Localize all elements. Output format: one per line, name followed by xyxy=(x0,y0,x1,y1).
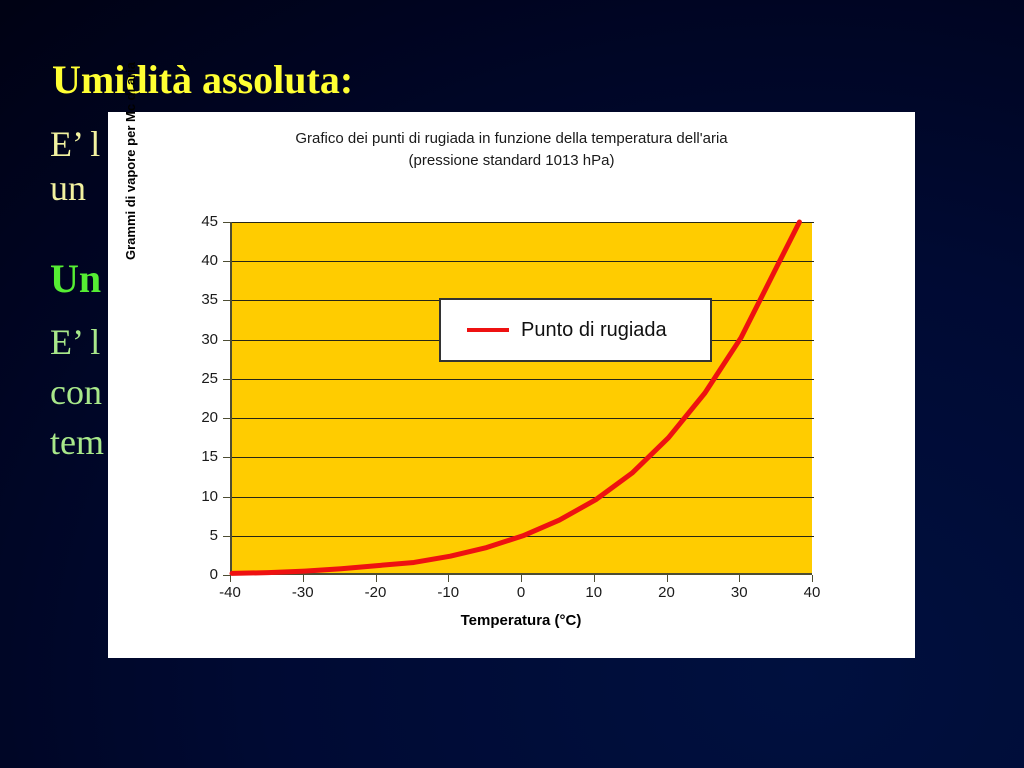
x-axis-tick-label: -40 xyxy=(195,584,265,601)
y-axis-tick-label: 5 xyxy=(158,527,218,544)
section-subtitle: Un xyxy=(50,256,101,302)
x-axis-tick-label: 0 xyxy=(486,584,556,601)
y-axis-tick-mark xyxy=(223,340,230,341)
chart-subtitle: (pressione standard 1013 hPa) xyxy=(108,150,915,172)
x-axis-tick-mark xyxy=(812,575,813,582)
x-axis-tick-label: 40 xyxy=(777,584,847,601)
x-axis-tick-label: -10 xyxy=(413,584,483,601)
page-title: Umidità assoluta: xyxy=(52,57,353,103)
y-axis-tick-label: 30 xyxy=(158,331,218,348)
plot-wrap: 051015202530354045 -40-30-20-10010203040 xyxy=(230,222,812,575)
y-axis-tick-label: 15 xyxy=(158,448,218,465)
body-text-line-1: E’ l xyxy=(50,122,100,166)
x-axis-tick-mark xyxy=(667,575,668,582)
x-axis-tick-label: -20 xyxy=(341,584,411,601)
x-axis-tick-label: 20 xyxy=(632,584,702,601)
y-axis-tick-mark xyxy=(223,418,230,419)
x-axis-tick-mark xyxy=(521,575,522,582)
x-axis-tick-mark xyxy=(448,575,449,582)
x-axis-tick-mark xyxy=(376,575,377,582)
y-axis-tick-label: 25 xyxy=(158,370,218,387)
y-axis-tick-label: 45 xyxy=(158,213,218,230)
green-text-line-2: con xyxy=(50,370,102,414)
y-axis-tick-label: 20 xyxy=(158,409,218,426)
y-axis-tick-label: 35 xyxy=(158,291,218,308)
y-axis-tick-mark xyxy=(223,379,230,380)
series-curve-punto-di-rugiada xyxy=(232,222,814,575)
green-text-line-1: E’ l xyxy=(50,320,100,364)
x-axis-tick-mark xyxy=(303,575,304,582)
y-axis-tick-label: 10 xyxy=(158,488,218,505)
x-axis-tick-mark xyxy=(230,575,231,582)
slide-canvas: Umidità assoluta: E’ l un Un E’ l con te… xyxy=(0,0,1024,768)
x-axis-tick-mark xyxy=(594,575,595,582)
x-axis-tick-label: 10 xyxy=(559,584,629,601)
chart-panel: Grafico dei punti di rugiada in funzione… xyxy=(108,112,915,658)
chart-legend: Punto di rugiada xyxy=(439,298,712,362)
y-axis-tick-mark xyxy=(223,536,230,537)
y-axis-tick-mark xyxy=(223,497,230,498)
y-axis-tick-mark xyxy=(223,261,230,262)
plot-area xyxy=(230,222,812,575)
y-axis-tick-mark xyxy=(223,300,230,301)
legend-label: Punto di rugiada xyxy=(521,319,667,342)
body-text-line-2: un xyxy=(50,166,86,210)
y-axis-tick-mark xyxy=(223,457,230,458)
y-axis-title: Grammi di vapore per Mc di aria xyxy=(123,0,138,260)
chart-title-line-1: Grafico dei punti di rugiada in funzione… xyxy=(295,130,727,147)
x-axis-title: Temperatura (°C) xyxy=(230,612,812,629)
y-axis-tick-mark xyxy=(223,222,230,223)
y-axis-tick-mark xyxy=(223,575,230,576)
legend-swatch-icon xyxy=(467,328,509,332)
x-axis-tick-label: 30 xyxy=(704,584,774,601)
x-axis-tick-label: -30 xyxy=(268,584,338,601)
y-axis-tick-label: 0 xyxy=(158,566,218,583)
chart-title: Grafico dei punti di rugiada in funzione… xyxy=(108,128,915,172)
green-text-line-3: tem xyxy=(50,420,104,464)
x-axis-tick-mark xyxy=(739,575,740,582)
y-axis-tick-label: 40 xyxy=(158,252,218,269)
